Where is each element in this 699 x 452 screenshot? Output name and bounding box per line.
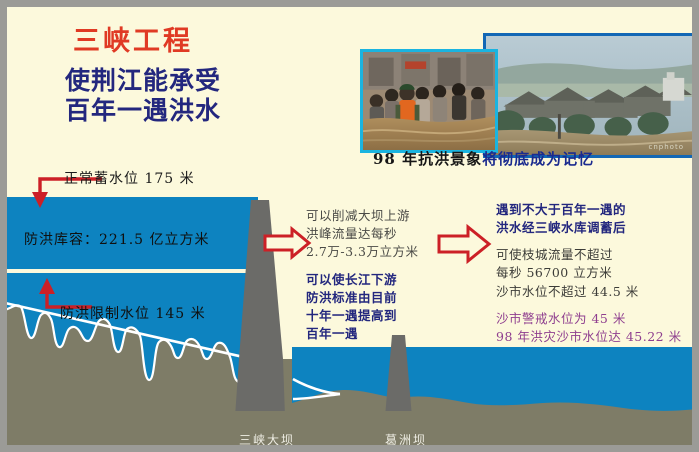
right-blue-paragraph: 遇到不大于百年一遇的 洪水经三峡水库调蓄后 xyxy=(496,201,692,237)
label-flood-control-capacity: 防洪库容：221.5 亿立方米 xyxy=(24,229,210,249)
middle-text-block: 可以削减大坝上游 洪峰流量达每秒 2.7万-3.3万立方米 可以使长江下游 防洪… xyxy=(306,207,466,343)
right-dark-paragraph: 可使枝城流量不超过 每秒 56700 立方米 沙市水位不超过 44.5 米 xyxy=(496,246,692,300)
photo-caption: 98 年抗洪景象将彻底成为记忆 xyxy=(373,148,594,169)
middle-gray-paragraph: 可以削减大坝上游 洪峰流量达每秒 2.7万-3.3万立方米 xyxy=(306,207,466,261)
caption-text-black: 98 年抗洪景象 xyxy=(373,150,482,168)
right-blue-line-1: 遇到不大于百年一遇的 xyxy=(496,201,692,219)
middle-blue-line-3: 十年一遇提高到 xyxy=(306,307,466,325)
flow-block-arrow-1 xyxy=(265,229,309,257)
right-dark-line-1: 可使枝城流量不超过 xyxy=(496,246,692,264)
caption-text-blue: 将彻底成为记忆 xyxy=(482,150,594,168)
infographic-poster: 三峡工程 使荆江能承受 百年一遇洪水 xyxy=(0,0,699,452)
middle-blue-paragraph: 可以使长江下游 防洪标准由目前 十年一遇提高到 百年一遇 xyxy=(306,271,466,343)
label-flood-limit-level: 防洪限制水位 145 米 xyxy=(60,303,206,323)
right-dark-line-3: 沙市水位不超过 44.5 米 xyxy=(496,283,692,301)
middle-gray-line-3: 2.7万-3.3万立方米 xyxy=(306,243,466,261)
label-gezhouba-dam: 葛洲坝 xyxy=(385,431,427,445)
right-dark-line-2: 每秒 56700 立方米 xyxy=(496,264,692,282)
label-three-gorges-dam: 三峡大坝 xyxy=(239,431,295,445)
label-normal-water-level: 正常蓄水位 175 米 xyxy=(64,168,195,188)
right-purple-paragraph: 沙市警戒水位为 45 米 98 年洪灾沙市水位达 45.22 米 xyxy=(496,310,692,346)
right-purple-line-1: 沙市警戒水位为 45 米 xyxy=(496,310,692,328)
right-text-block: 遇到不大于百年一遇的 洪水经三峡水库调蓄后 可使枝城流量不超过 每秒 56700… xyxy=(496,201,692,346)
middle-blue-line-2: 防洪标准由目前 xyxy=(306,289,466,307)
middle-blue-line-1: 可以使长江下游 xyxy=(306,271,466,289)
middle-blue-line-4: 百年一遇 xyxy=(306,325,466,343)
middle-gray-line-1: 可以削减大坝上游 xyxy=(306,207,466,225)
middle-gray-line-2: 洪峰流量达每秒 xyxy=(306,225,466,243)
right-purple-line-2: 98 年洪灾沙市水位达 45.22 米 xyxy=(496,328,692,346)
right-blue-line-2: 洪水经三峡水库调蓄后 xyxy=(496,219,692,237)
poster-page: 三峡工程 使荆江能承受 百年一遇洪水 xyxy=(7,7,692,445)
